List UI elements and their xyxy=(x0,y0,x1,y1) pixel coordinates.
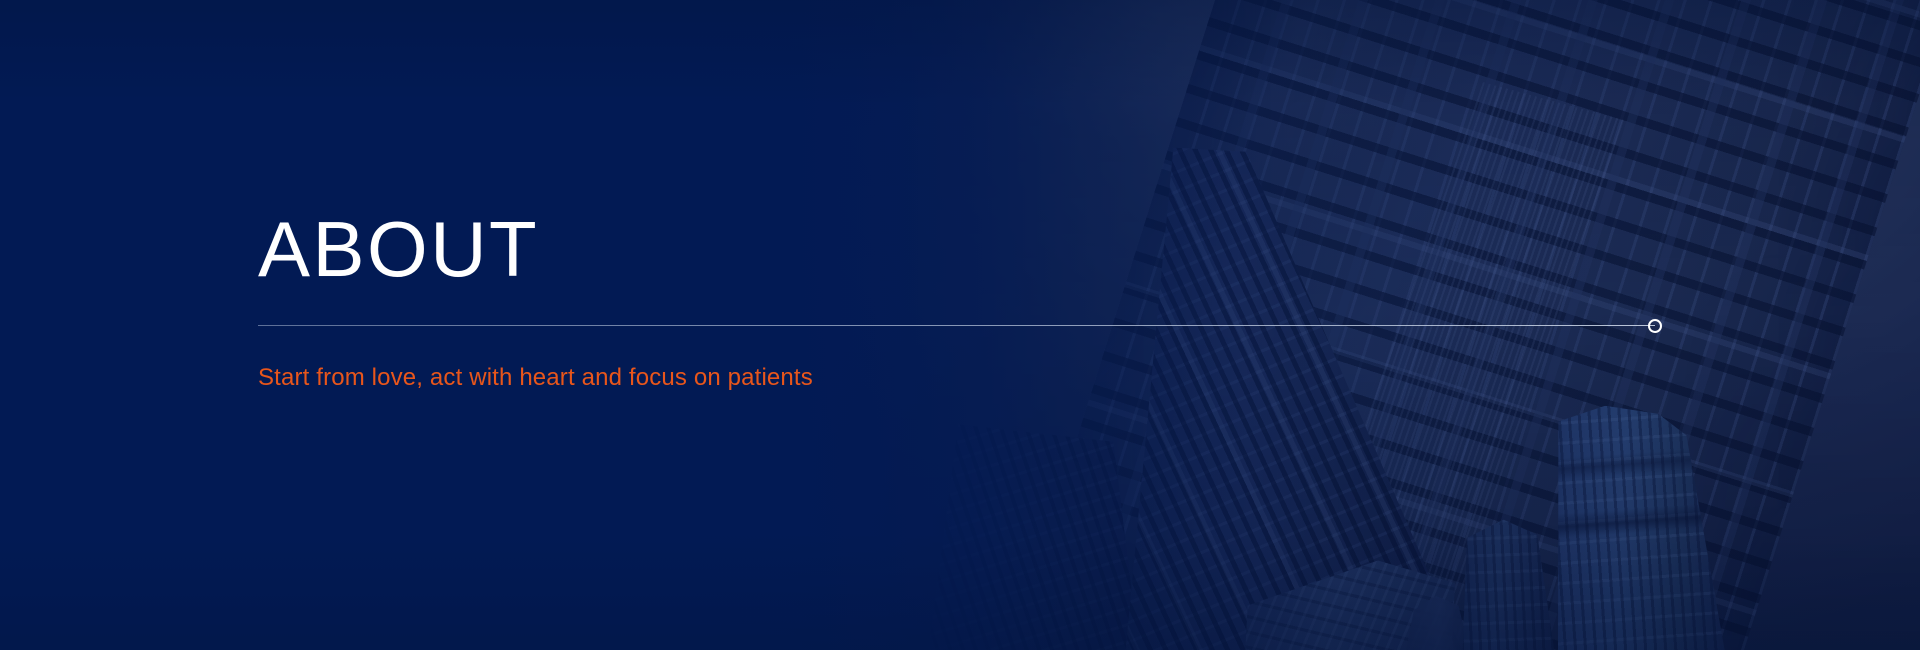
hero-content: ABOUT Start from love, act with heart an… xyxy=(258,0,1878,650)
about-hero-banner: ABOUT Start from love, act with heart an… xyxy=(0,0,1920,650)
title-divider xyxy=(258,325,1655,326)
hero-subtitle: Start from love, act with heart and focu… xyxy=(258,362,813,394)
divider-line xyxy=(258,325,1655,326)
circle-outline-icon xyxy=(1648,319,1662,333)
page-title: ABOUT xyxy=(258,210,539,288)
